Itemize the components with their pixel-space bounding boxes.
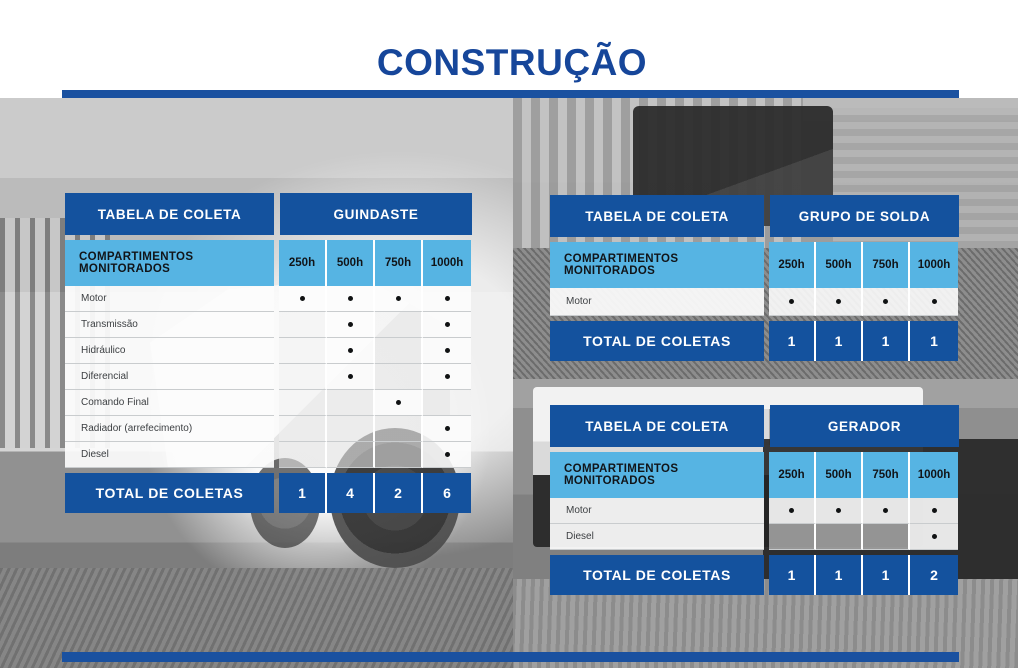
table-row: Comando Final [65, 390, 472, 416]
total-1000h: 2 [910, 555, 958, 595]
slide-canvas: CONSTRUÇÃO TABELA DE COLETA GUINDASTE CO… [0, 0, 1024, 668]
interval-header-250h: 250h [769, 242, 816, 288]
cell-500h-empty [327, 416, 375, 442]
cell-500h-marked [327, 364, 375, 390]
row-label: Comando Final [65, 390, 274, 416]
table-total-row: TOTAL DE COLETAS 1 1 1 2 [550, 555, 959, 595]
table-row: Diesel [550, 524, 959, 550]
cell-1000h-marked [910, 498, 958, 524]
table-title-left: TABELA DE COLETA [550, 195, 764, 237]
collection-dot-icon [836, 508, 841, 513]
table-title-right: GUINDASTE [280, 193, 472, 235]
cell-500h-empty [327, 442, 375, 468]
page-title: CONSTRUÇÃO [0, 42, 1024, 84]
table-row: Motor [550, 498, 959, 524]
collection-dot-icon [932, 508, 937, 513]
cell-750h-marked [375, 286, 423, 312]
bottom-divider-rule [62, 652, 959, 662]
cell-750h-marked [863, 288, 910, 316]
cell-750h-marked [375, 390, 423, 416]
cell-250h-marked [279, 286, 327, 312]
total-1000h: 1 [910, 321, 958, 361]
total-250h: 1 [769, 321, 816, 361]
cell-1000h-marked [423, 364, 471, 390]
collection-dot-icon [396, 296, 401, 301]
collection-dot-icon [300, 296, 305, 301]
row-label: Motor [550, 288, 764, 316]
cell-750h-marked [863, 498, 910, 524]
collection-dot-icon [836, 299, 841, 304]
collection-dot-icon [396, 400, 401, 405]
row-label: Transmissão [65, 312, 274, 338]
collection-dot-icon [348, 296, 353, 301]
cell-500h-marked [327, 286, 375, 312]
table-row: Radiador (arrefecimento) [65, 416, 472, 442]
total-1000h: 6 [423, 473, 471, 513]
right-white-margin [1018, 98, 1024, 668]
cell-250h-marked [769, 498, 816, 524]
interval-header-1000h: 1000h [423, 240, 471, 286]
row-label: Radiador (arrefecimento) [65, 416, 274, 442]
top-divider-rule [62, 90, 959, 98]
cell-1000h-marked [423, 442, 471, 468]
table-subheader-row: COMPARTIMENTOS MONITORADOS 250h 500h 750… [550, 452, 959, 498]
total-500h: 1 [816, 321, 863, 361]
interval-header-750h: 750h [375, 240, 423, 286]
collection-dot-icon [932, 299, 937, 304]
row-label: Hidráulico [65, 338, 274, 364]
collection-dot-icon [883, 508, 888, 513]
table-row: Motor [65, 286, 472, 312]
table-header-row: TABELA DE COLETA GUINDASTE [65, 193, 472, 235]
total-500h: 1 [816, 555, 863, 595]
total-750h: 1 [863, 555, 910, 595]
table-row: Diesel [65, 442, 472, 468]
collection-dot-icon [445, 426, 450, 431]
cell-750h-empty [375, 416, 423, 442]
row-label: Diesel [65, 442, 274, 468]
table-body: Motor [550, 288, 959, 316]
collection-dot-icon [445, 322, 450, 327]
cell-750h-empty [375, 364, 423, 390]
interval-header-250h: 250h [279, 240, 327, 286]
cell-750h-empty [863, 524, 910, 550]
cell-1000h-marked [423, 312, 471, 338]
total-250h: 1 [769, 555, 816, 595]
cell-250h-empty [279, 364, 327, 390]
interval-header-500h: 500h [816, 242, 863, 288]
table-header-row: TABELA DE COLETA GRUPO DE SOLDA [550, 195, 959, 237]
row-label: Diferencial [65, 364, 274, 390]
cell-1000h-marked [423, 416, 471, 442]
total-label: TOTAL DE COLETAS [550, 321, 764, 361]
total-750h: 1 [863, 321, 910, 361]
cell-250h-marked [769, 288, 816, 316]
total-500h: 4 [327, 473, 375, 513]
table-guindaste: TABELA DE COLETA GUINDASTE COMPARTIMENTO… [65, 193, 472, 513]
interval-header-500h: 500h [816, 452, 863, 498]
table-row: Motor [550, 288, 959, 316]
interval-header-1000h: 1000h [910, 242, 958, 288]
cell-500h-empty [327, 390, 375, 416]
collection-dot-icon [789, 299, 794, 304]
interval-header-1000h: 1000h [910, 452, 958, 498]
cell-250h-empty [279, 442, 327, 468]
row-label: Motor [550, 498, 764, 524]
collection-dot-icon [932, 534, 937, 539]
collection-dot-icon [445, 452, 450, 457]
cell-750h-empty [375, 312, 423, 338]
collection-dot-icon [348, 374, 353, 379]
collection-dot-icon [883, 299, 888, 304]
total-750h: 2 [375, 473, 423, 513]
table-body: MotorTransmissãoHidráulicoDiferencialCom… [65, 286, 472, 468]
table-header-row: TABELA DE COLETA GERADOR [550, 405, 959, 447]
row-label: Diesel [550, 524, 764, 550]
cell-500h-empty [816, 524, 863, 550]
collection-dot-icon [445, 296, 450, 301]
collection-dot-icon [348, 348, 353, 353]
interval-header-250h: 250h [769, 452, 816, 498]
total-label: TOTAL DE COLETAS [65, 473, 274, 513]
table-subheader-row: COMPARTIMENTOS MONITORADOS 250h 500h 750… [550, 242, 959, 288]
cell-250h-empty [769, 524, 816, 550]
table-row: Diferencial [65, 364, 472, 390]
table-title-right: GERADOR [770, 405, 959, 447]
cell-1000h-marked [910, 524, 958, 550]
collection-dot-icon [445, 348, 450, 353]
interval-header-500h: 500h [327, 240, 375, 286]
cell-1000h-marked [423, 338, 471, 364]
table-title-left: TABELA DE COLETA [550, 405, 764, 447]
title-band: CONSTRUÇÃO [0, 0, 1024, 98]
table-title-right: GRUPO DE SOLDA [770, 195, 959, 237]
cell-250h-empty [279, 312, 327, 338]
table-total-row: TOTAL DE COLETAS 1 4 2 6 [65, 473, 472, 513]
table-title-left: TABELA DE COLETA [65, 193, 274, 235]
table-row: Hidráulico [65, 338, 472, 364]
total-label: TOTAL DE COLETAS [550, 555, 764, 595]
cell-250h-empty [279, 416, 327, 442]
cell-750h-empty [375, 338, 423, 364]
collection-dot-icon [789, 508, 794, 513]
row-label: Motor [65, 286, 274, 312]
cell-250h-empty [279, 338, 327, 364]
cell-1000h-marked [423, 286, 471, 312]
cell-500h-marked [816, 288, 863, 316]
collection-dot-icon [348, 322, 353, 327]
subheader-label: COMPARTIMENTOS MONITORADOS [550, 242, 764, 288]
total-250h: 1 [279, 473, 327, 513]
table-body: MotorDiesel [550, 498, 959, 550]
cell-500h-marked [816, 498, 863, 524]
interval-header-750h: 750h [863, 452, 910, 498]
subheader-label: COMPARTIMENTOS MONITORADOS [550, 452, 764, 498]
cell-500h-marked [327, 338, 375, 364]
cell-500h-marked [327, 312, 375, 338]
subheader-label: COMPARTIMENTOS MONITORADOS [65, 240, 274, 286]
cell-1000h-empty [423, 390, 471, 416]
interval-header-750h: 750h [863, 242, 910, 288]
cell-750h-empty [375, 442, 423, 468]
cell-250h-empty [279, 390, 327, 416]
table-total-row: TOTAL DE COLETAS 1 1 1 1 [550, 321, 959, 361]
table-gerador: TABELA DE COLETA GERADOR COMPARTIMENTOS … [550, 405, 959, 595]
collection-dot-icon [445, 374, 450, 379]
table-grupo-de-solda: TABELA DE COLETA GRUPO DE SOLDA COMPARTI… [550, 195, 959, 361]
table-subheader-row: COMPARTIMENTOS MONITORADOS 250h 500h 750… [65, 240, 472, 286]
table-row: Transmissão [65, 312, 472, 338]
cell-1000h-marked [910, 288, 958, 316]
